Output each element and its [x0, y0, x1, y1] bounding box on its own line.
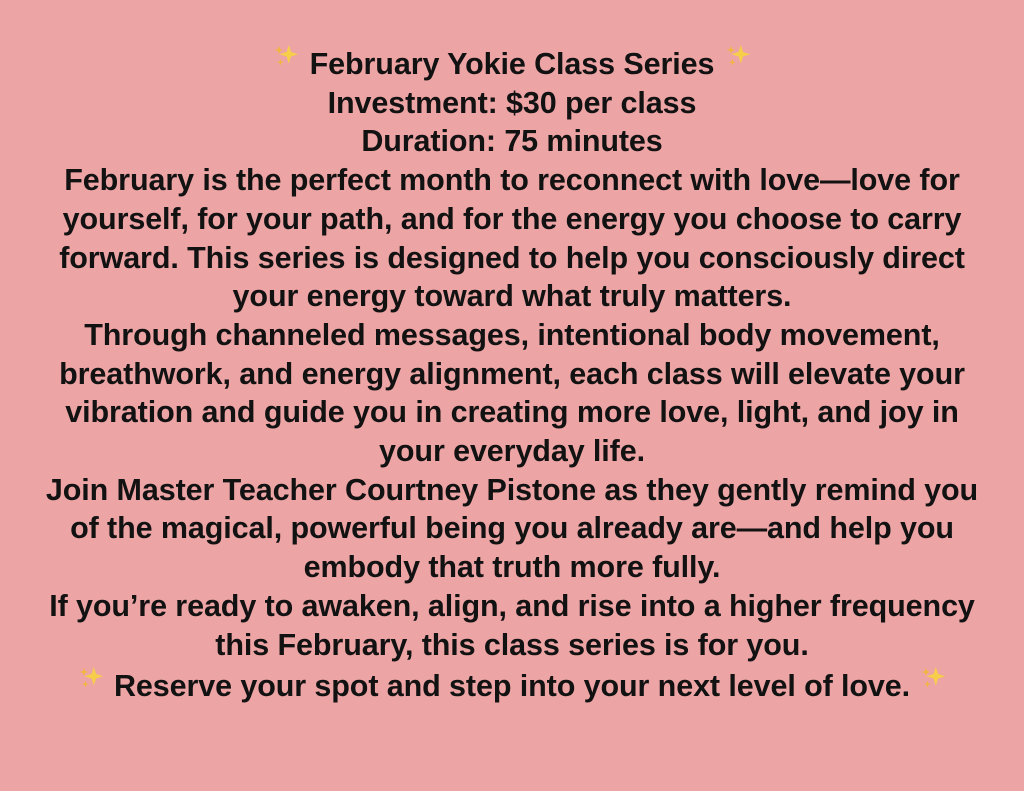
sparkles-icon-title-right	[723, 42, 753, 72]
flyer-canvas: February Yokie Class Series Investment: …	[0, 0, 1024, 791]
sparkles-icon-closing-left	[76, 664, 106, 694]
flyer-title-row: February Yokie Class Series	[38, 42, 986, 84]
paragraph-teacher: Join Master Teacher Courtney Pistone as …	[38, 471, 986, 587]
closing-row: Reserve your spot and step into your nex…	[38, 664, 986, 706]
page-title: February Yokie Class Series	[310, 47, 715, 81]
investment-line: Investment: $30 per class	[38, 84, 986, 123]
closing-line: Reserve your spot and step into your nex…	[114, 669, 910, 703]
sparkles-icon-closing-right	[918, 664, 948, 694]
paragraph-offerings: Through channeled messages, intentional …	[38, 316, 986, 471]
duration-line: Duration: 75 minutes	[38, 122, 986, 161]
sparkles-icon-title-left	[271, 42, 301, 72]
paragraph-intro: February is the perfect month to reconne…	[38, 161, 986, 316]
paragraph-call-to-action: If you’re ready to awaken, align, and ri…	[38, 587, 986, 664]
